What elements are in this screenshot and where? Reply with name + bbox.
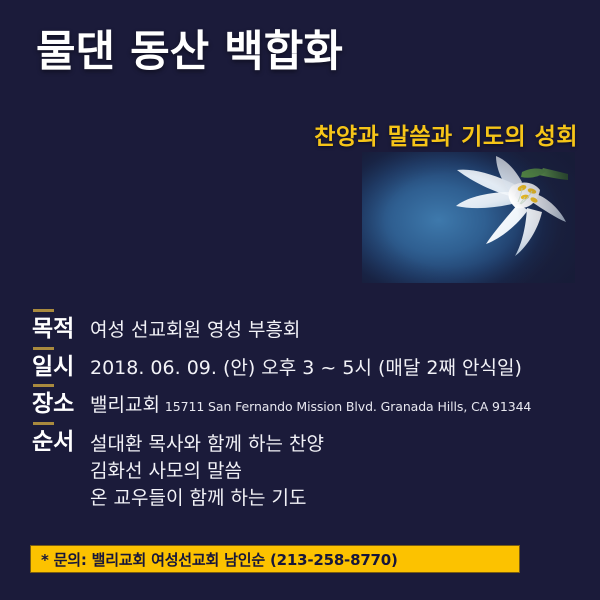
tick-mark-icon <box>33 347 54 350</box>
label-wrap-location: 장소 <box>32 391 90 417</box>
event-details: 목적 여성 선교회원 영성 부흥회 일시 2018. 06. 09. (안) 오… <box>0 316 600 523</box>
white-lily-photo <box>362 152 575 283</box>
detail-value-datetime: 2018. 06. 09. (안) 오후 3 ~ 5시 (매달 2째 안식일) <box>90 354 600 381</box>
detail-label-datetime: 일시 <box>32 354 90 380</box>
detail-row-program: 순서 설대환 목사와 함께 하는 찬양 김화선 사모의 말씀 온 교우들이 함께… <box>0 429 600 512</box>
detail-value-program: 설대환 목사와 함께 하는 찬양 김화선 사모의 말씀 온 교우들이 함께 하는… <box>90 429 600 512</box>
label-wrap-datetime: 일시 <box>32 354 90 380</box>
poster-subtitle: 찬양과 말씀과 기도의 성회 <box>314 117 578 151</box>
tick-mark-icon <box>33 309 54 312</box>
lily-illustration <box>362 152 575 283</box>
venue-address: 15711 San Fernando Mission Blvd. Granada… <box>165 399 531 414</box>
venue-name: 밸리교회 <box>90 394 160 416</box>
label-wrap-program: 순서 <box>32 429 90 455</box>
contact-bar: * 문의: 밸리교회 여성선교회 남인순 (213-258-8770) <box>30 545 520 573</box>
detail-row-datetime: 일시 2018. 06. 09. (안) 오후 3 ~ 5시 (매달 2째 안식… <box>0 354 600 381</box>
label-wrap-purpose: 목적 <box>32 316 90 342</box>
detail-row-purpose: 목적 여성 선교회원 영성 부흥회 <box>0 316 600 343</box>
detail-value-location: 밸리교회15711 San Fernando Mission Blvd. Gra… <box>90 391 600 418</box>
detail-label-purpose: 목적 <box>32 316 90 342</box>
program-line: 김화선 사모의 말씀 <box>90 458 600 485</box>
event-poster: 물댄 동산 백합화 찬양과 말씀과 기도의 성회 <box>0 0 600 600</box>
tick-mark-icon <box>33 422 54 425</box>
program-line: 온 교우들이 함께 하는 기도 <box>90 485 600 512</box>
program-line: 설대환 목사와 함께 하는 찬양 <box>90 431 600 458</box>
tick-mark-icon <box>33 384 54 387</box>
page-title: 물댄 동산 백합화 <box>36 30 343 75</box>
detail-value-purpose: 여성 선교회원 영성 부흥회 <box>90 316 600 343</box>
detail-label-location: 장소 <box>32 391 90 417</box>
detail-label-program: 순서 <box>32 429 90 455</box>
contact-text: * 문의: 밸리교회 여성선교회 남인순 (213-258-8770) <box>41 549 398 570</box>
detail-row-location: 장소 밸리교회15711 San Fernando Mission Blvd. … <box>0 391 600 418</box>
